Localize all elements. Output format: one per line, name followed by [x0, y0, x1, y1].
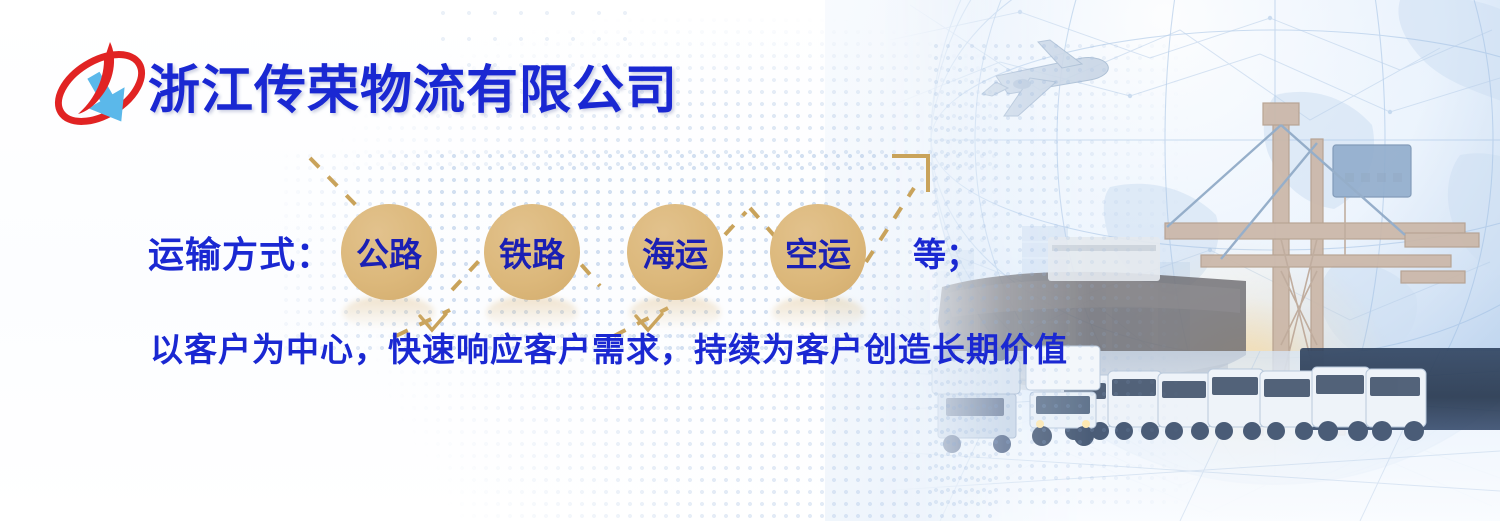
company-logo[interactable] [48, 36, 152, 140]
mode-label-air: 空运 [785, 228, 851, 276]
transport-modes-tail: 等； [913, 228, 979, 276]
mode-bubble-air[interactable]: 空运 [770, 204, 866, 300]
mode-label-rail: 铁路 [499, 228, 565, 276]
mode-bubble-rail[interactable]: 铁路 [484, 204, 580, 300]
truck-fleet-icon [1060, 345, 1490, 460]
company-tagline: 以客户为中心，快速响应客户需求，持续为客户创造长期价值 [150, 323, 1068, 371]
mode-label-road: 公路 [356, 228, 422, 276]
transport-modes-label: 运输方式： [148, 226, 333, 278]
airplane-icon [978, 38, 1128, 148]
logistics-banner: 浙江传荣物流有限公司 运输方式： 公路 铁路 海运 空运 等； 以客户为中心，快… [0, 0, 1500, 521]
mode-bubble-road[interactable]: 公路 [341, 204, 437, 300]
transport-modes-row: 运输方式： 公路 铁路 海运 空运 等； [148, 206, 979, 298]
company-name: 浙江传荣物流有限公司 [148, 48, 678, 123]
red-ellipse-blue-arrow-logo [48, 36, 152, 140]
mode-label-sea: 海运 [642, 228, 708, 276]
mode-bubble-sea[interactable]: 海运 [627, 204, 723, 300]
